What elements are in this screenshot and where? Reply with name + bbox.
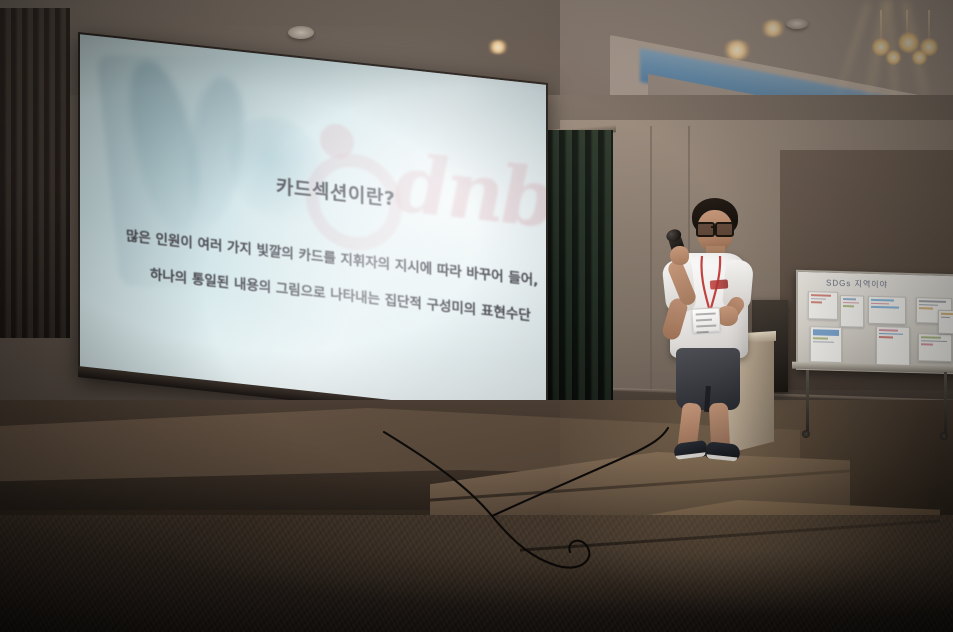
- downlight-icon: [760, 20, 786, 37]
- whiteboard-poster: [938, 310, 953, 335]
- chandelier-icon: [862, 10, 952, 70]
- glasses-icon: [696, 222, 733, 233]
- whiteboard-handwritten-title: SDGs 지역이야: [826, 278, 888, 291]
- smoke-detector-icon: [786, 18, 808, 29]
- carpet-texture: [0, 515, 953, 632]
- whiteboard-poster: [876, 326, 910, 369]
- slide-art-shape: [121, 59, 210, 234]
- presenter-shoe-right: [705, 441, 741, 461]
- tshirt-logo: [710, 279, 729, 289]
- whiteboard-poster: [808, 291, 838, 320]
- presenter: [648, 198, 768, 463]
- smoke-detector-icon: [288, 26, 314, 39]
- whiteboard-poster: [840, 295, 864, 328]
- whiteboard-caster: [940, 432, 948, 440]
- presenter-shoe-left: [673, 440, 708, 460]
- slide-art-shape: [184, 73, 249, 231]
- whiteboard-stand-leg: [806, 370, 809, 432]
- photo-scene: dnb 카드섹션이란? 많은 인원이 여러 가지 빛깔의 카드를 지휘자의 지시…: [0, 0, 953, 632]
- whiteboard-poster: [810, 326, 842, 363]
- downlight-icon: [487, 40, 509, 54]
- name-badge: [691, 307, 720, 332]
- whiteboard-poster: [918, 333, 952, 362]
- watermark-text: dnb: [394, 142, 546, 239]
- carpet-floor: [0, 515, 953, 632]
- slide-surface: dnb 카드섹션이란? 많은 인원이 여러 가지 빛깔의 카드를 지휘자의 지시…: [80, 34, 546, 418]
- whiteboard-stand-leg: [944, 372, 947, 434]
- curtain-left: [0, 8, 70, 338]
- whiteboard: SDGs 지역이야: [796, 270, 953, 375]
- presenter-hand-left: [670, 246, 689, 265]
- whiteboard-poster: [868, 296, 906, 325]
- downlight-icon: [722, 40, 752, 60]
- whiteboard-caster: [802, 430, 810, 438]
- projection-screen: dnb 카드섹션이란? 많은 인원이 여러 가지 빛깔의 카드를 지휘자의 지시…: [78, 32, 548, 428]
